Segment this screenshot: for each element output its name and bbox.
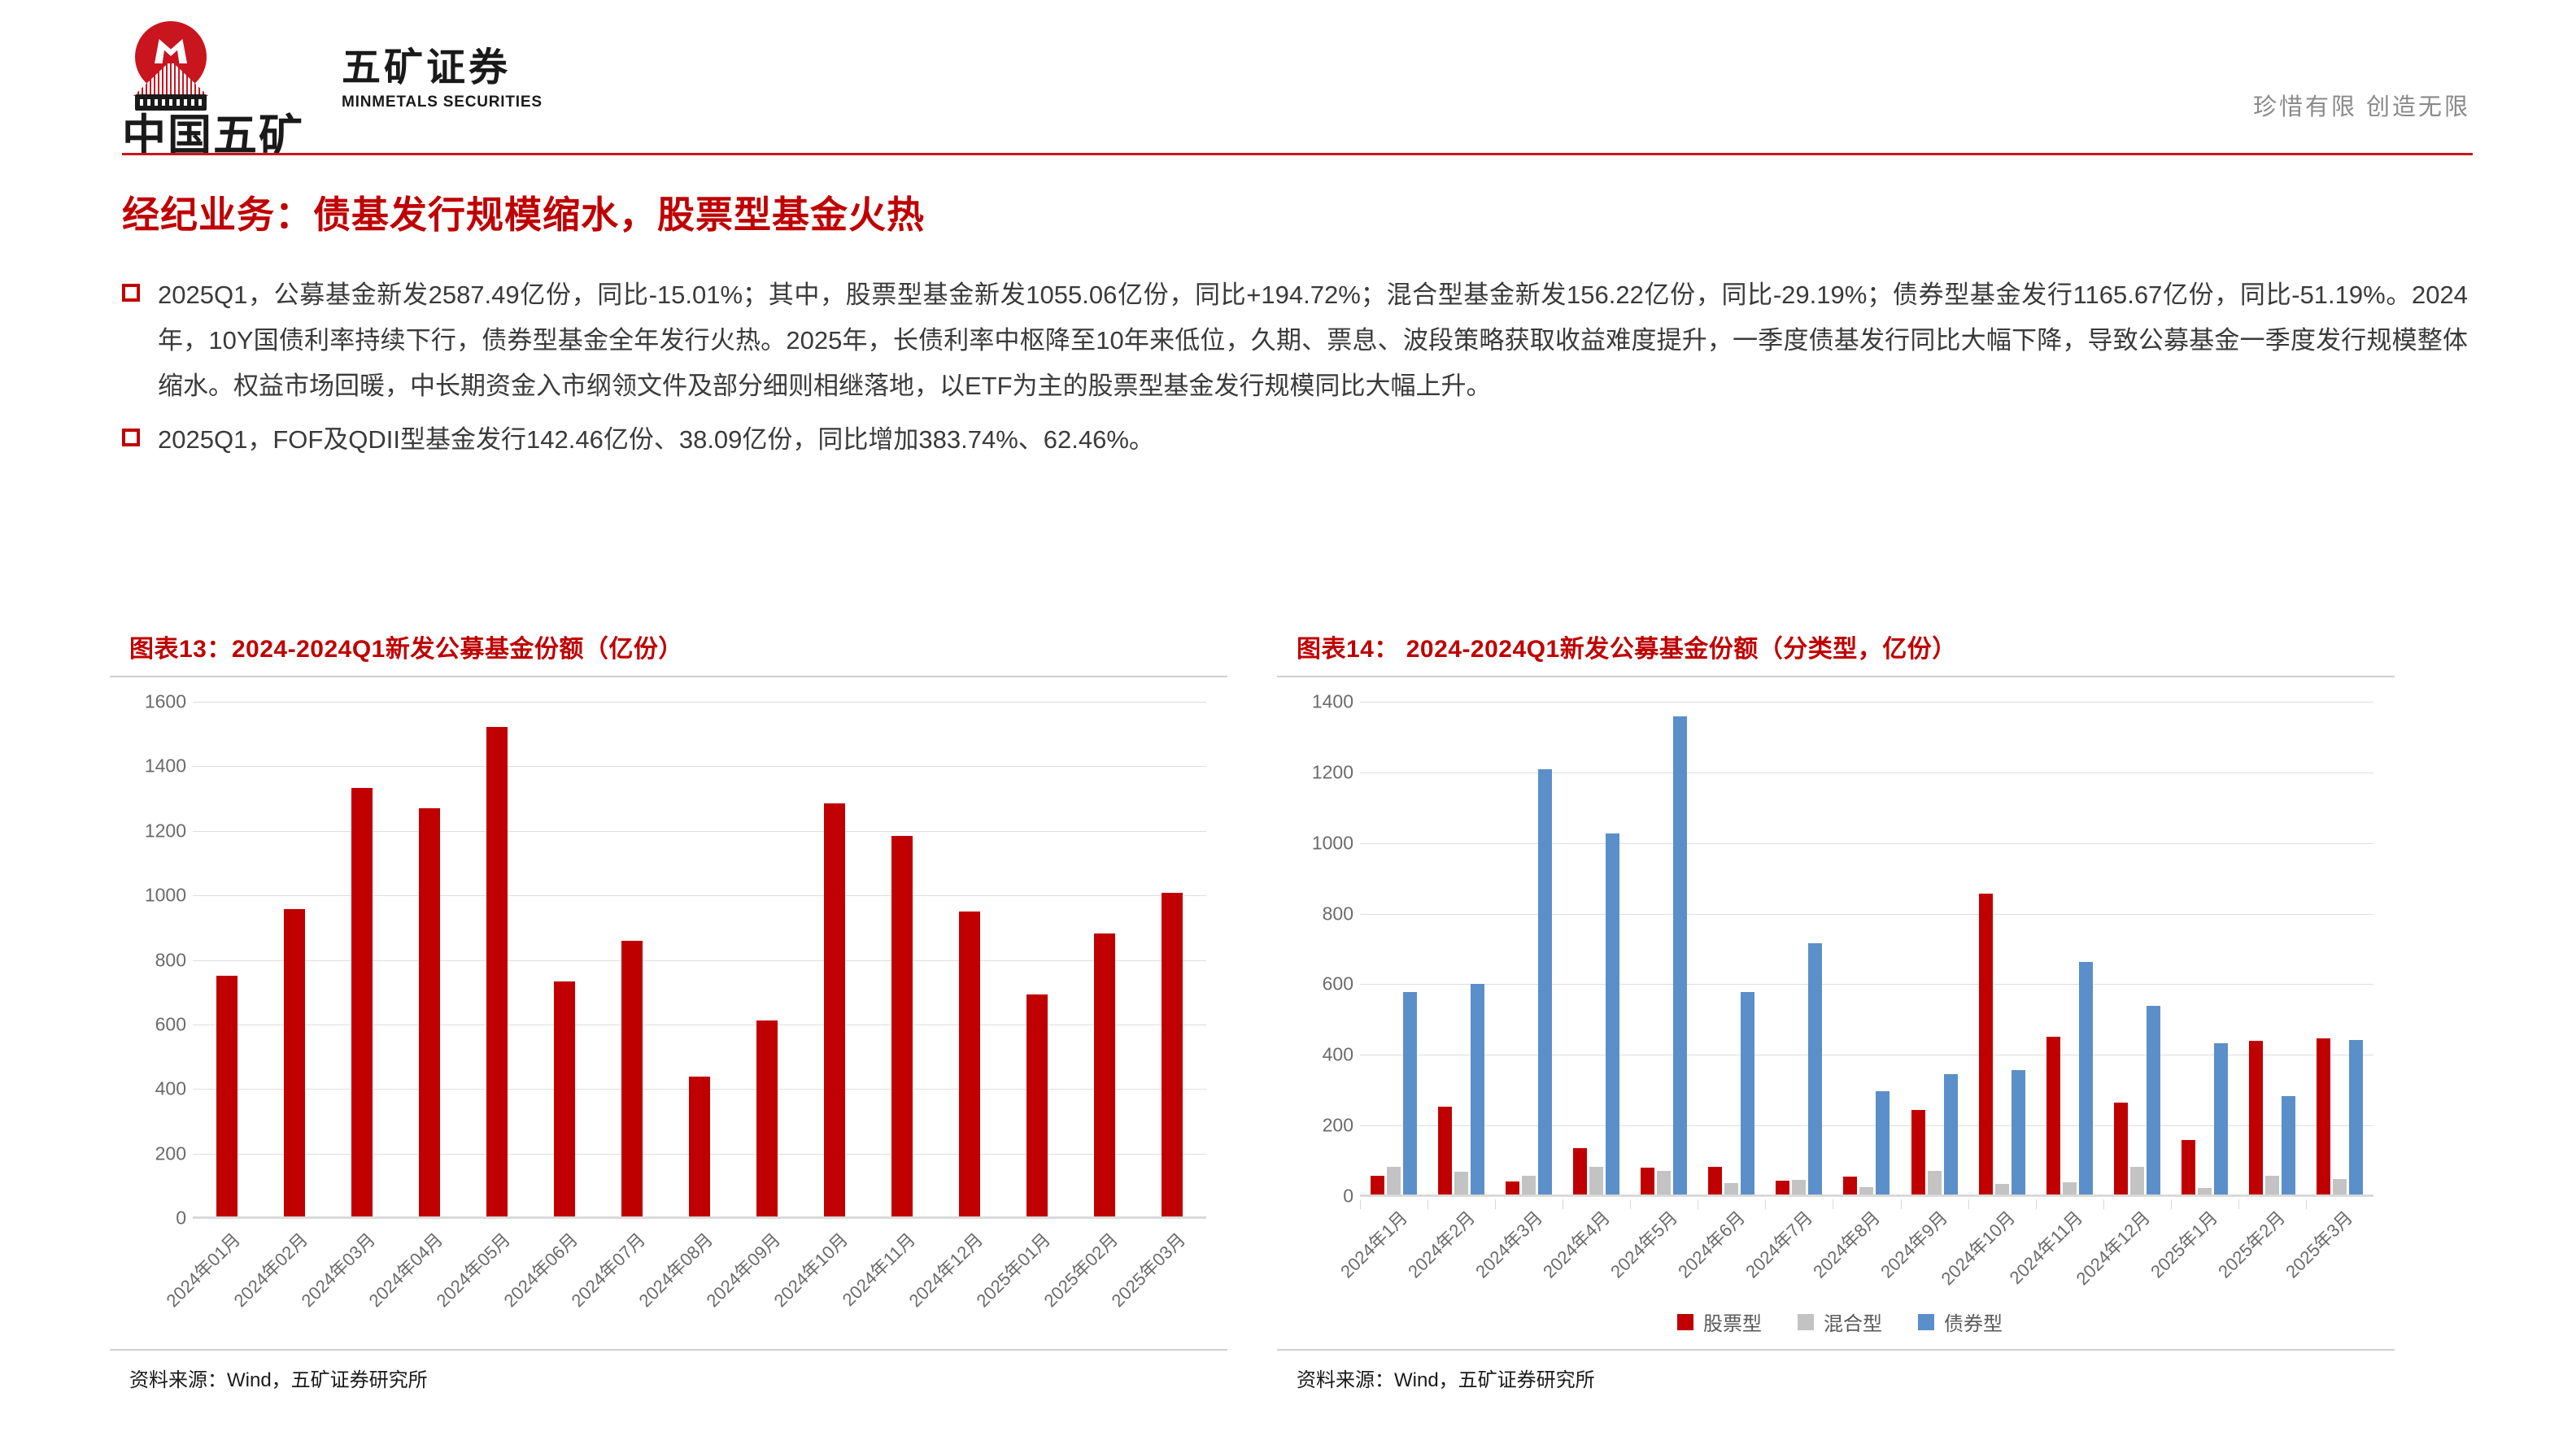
bar (284, 909, 305, 1218)
bar-债券型 (1876, 1091, 1890, 1196)
bar-slot (530, 702, 598, 1218)
bar-债券型 (1606, 833, 1619, 1196)
bar-slot (1004, 702, 1071, 1218)
bar-债券型 (1741, 992, 1754, 1196)
y-axis-tick-label: 600 (1323, 973, 1353, 995)
bar-slot (193, 702, 260, 1218)
bar-group (1765, 702, 1833, 1196)
body-bullet-list: 2025Q1，公募基金新发2587.49亿份，同比-15.01%；其中，股票型基… (122, 272, 2481, 471)
bar-series-container (1360, 702, 2373, 1196)
x-axis-tick (1427, 1199, 1428, 1209)
bar-chart-13: 020040060080010001200140016002024年01月202… (124, 702, 1221, 1349)
square-bullet-icon (122, 284, 140, 302)
bullet-text: 2025Q1，FOF及QDII型基金发行142.46亿份、38.09亿份，同比增… (158, 417, 2468, 463)
bar-group (1360, 702, 1427, 1196)
bar-股票型 (1438, 1107, 1452, 1196)
bar-债券型 (2282, 1096, 2295, 1196)
y-axis-tick-label: 1000 (1312, 832, 1353, 854)
x-axis-tick (1765, 1199, 1766, 1209)
bar-债券型 (1471, 984, 1484, 1196)
bar-slot (598, 702, 665, 1218)
bar-group (1427, 702, 1495, 1196)
y-axis-tick-label: 400 (1323, 1044, 1353, 1066)
x-axis-tick (1360, 1199, 1361, 1209)
y-axis-tick-label: 1200 (1312, 761, 1353, 783)
bar (419, 808, 440, 1218)
square-bullet-icon (122, 429, 140, 446)
chart-source-13: 资料来源：Wind，五矿证券研究所 (110, 1351, 1227, 1392)
x-axis-slot: 2025年03月 (1139, 1221, 1206, 1343)
legend-item-混合型: 混合型 (1798, 1308, 1882, 1336)
bar-混合型 (1454, 1172, 1468, 1196)
x-axis-tick (1630, 1199, 1631, 1209)
bar-股票型 (2249, 1041, 2263, 1196)
x-axis-tick (2171, 1199, 2172, 1209)
list-item: 2025Q1，公募基金新发2587.49亿份，同比-15.01%；其中，股票型基… (122, 272, 2481, 409)
bar-slot (869, 702, 936, 1218)
y-axis-tick-label: 1000 (145, 885, 186, 907)
x-axis-tick (2036, 1199, 2037, 1209)
x-axis-tick (1901, 1199, 1902, 1209)
bar-slot (328, 702, 395, 1218)
bar-股票型 (1911, 1110, 1925, 1196)
y-axis-tick-label: 1400 (1312, 691, 1353, 713)
bar-group (2238, 702, 2306, 1196)
legend-label: 股票型 (1703, 1308, 1762, 1336)
x-axis-labels: 2024年01月2024年02月2024年03月2024年04月2024年05月… (193, 1221, 1206, 1343)
bar-债券型 (2214, 1043, 2228, 1196)
y-axis-tick-label: 0 (1343, 1186, 1353, 1207)
bar-股票型 (1641, 1168, 1654, 1196)
x-axis-tick (1833, 1199, 1833, 1209)
legend-swatch-icon (1798, 1314, 1814, 1330)
x-axis-tick (2306, 1199, 2307, 1209)
plot-grid (193, 702, 1206, 1218)
bar-债券型 (2349, 1040, 2363, 1196)
bar-slot (1698, 702, 1765, 1196)
grid-line (193, 1218, 1206, 1219)
header-slogan: 珍惜有限 创造无限 (2253, 88, 2470, 122)
bar-slot (2238, 702, 2306, 1196)
x-axis-tick (2103, 1199, 2104, 1209)
bar (1094, 933, 1115, 1218)
bar (351, 788, 373, 1218)
legend-label: 混合型 (1824, 1308, 1882, 1336)
bar-slot (1139, 702, 1206, 1218)
legend-swatch-icon (1918, 1314, 1934, 1330)
x-axis-slot: 2025年3月 (2306, 1199, 2373, 1321)
bar-slot (734, 702, 801, 1218)
y-axis-tick-label: 200 (1323, 1115, 1353, 1137)
bar-股票型 (2182, 1140, 2195, 1196)
bar-slot (2171, 702, 2238, 1196)
bar-slot (1360, 702, 1427, 1196)
bar-slot (1765, 702, 1833, 1196)
bar (486, 727, 508, 1218)
x-axis-line (1360, 1194, 2373, 1196)
chart-source-14: 资料来源：Wind，五矿证券研究所 (1277, 1351, 2395, 1392)
bar-混合型 (2130, 1167, 2144, 1196)
bullet-text: 2025Q1，公募基金新发2587.49亿份，同比-15.01%；其中，股票型基… (158, 272, 2468, 409)
x-axis-tick (1495, 1199, 1496, 1209)
bar-债券型 (1403, 992, 1417, 1196)
bar (1026, 994, 1048, 1218)
bar-group (1901, 702, 1968, 1196)
plot-grid (1360, 702, 2373, 1196)
y-axis-tick-label: 0 (176, 1207, 186, 1229)
bar-债券型 (1673, 716, 1687, 1196)
y-axis-tick-label: 800 (155, 949, 186, 971)
x-axis-line (193, 1216, 1206, 1218)
header-divider (122, 153, 2473, 155)
bar-股票型 (2046, 1037, 2060, 1196)
chart-plot-area-13: 020040060080010001200140016002024年01月202… (110, 676, 1227, 1351)
bar-group (1698, 702, 1765, 1196)
bar-股票型 (2317, 1038, 2330, 1196)
bar-股票型 (1371, 1176, 1384, 1196)
bar-slot (1901, 702, 1968, 1196)
bar-slot (1968, 702, 2036, 1196)
bar-债券型 (1944, 1074, 1958, 1196)
bar (621, 941, 643, 1218)
bar-group (2306, 702, 2373, 1196)
bar-股票型 (1573, 1148, 1587, 1196)
bar (891, 836, 913, 1218)
bar-slot (1833, 702, 1900, 1196)
brand-name-en: MINMETALS SECURITIES (342, 94, 543, 111)
bar-slot (801, 702, 869, 1218)
y-axis-tick-label: 1200 (145, 820, 186, 842)
x-axis-tick (1968, 1199, 1969, 1209)
bar-slot (936, 702, 1004, 1218)
chart-panel-13: 图表13：2024-2024Q1新发公募基金份额（亿份） 02004006008… (110, 614, 1227, 1419)
chart-panel-14: 图表14： 2024-2024Q1新发公募基金份额（分类型，亿份） 020040… (1277, 614, 2395, 1419)
bar-slot (1495, 702, 1563, 1196)
y-axis-tick-label: 600 (155, 1013, 186, 1035)
brand-name-cn: 五矿证券 (342, 49, 543, 88)
bar-group (1833, 702, 1900, 1196)
bar-债券型 (2079, 962, 2093, 1196)
bar-group (2103, 702, 2171, 1196)
minmetals-emblem-icon: 中国五矿 (122, 21, 220, 128)
chart-legend: 股票型混合型债券型 (1292, 1308, 2388, 1336)
bar-债券型 (1538, 769, 1552, 1196)
bar-group (2171, 702, 2238, 1196)
bar-group (2036, 702, 2103, 1196)
company-logo: 中国五矿 五矿证券 MINMETALS SECURITIES (122, 21, 543, 128)
x-axis-labels: 2024年1月2024年2月2024年3月2024年4月2024年5月2024年… (1360, 1199, 2373, 1321)
bar-混合型 (1387, 1167, 1401, 1196)
grid-line (1360, 1196, 2373, 1197)
bar-slot (1427, 702, 1495, 1196)
legend-item-债券型: 债券型 (1918, 1308, 2003, 1336)
y-axis-labels: 02004006008001000120014001600 (124, 702, 193, 1349)
bar (824, 803, 845, 1218)
bar-债券型 (2147, 1006, 2160, 1197)
legend-label: 债券型 (1944, 1308, 2003, 1336)
bar-slot (1563, 702, 1630, 1196)
chart-title-13: 图表13：2024-2024Q1新发公募基金份额（亿份） (110, 614, 1227, 676)
bar (959, 912, 980, 1218)
bar-slot (395, 702, 463, 1218)
chart-title-14: 图表14： 2024-2024Q1新发公募基金份额（分类型，亿份） (1277, 614, 2395, 676)
bar-混合型 (1589, 1167, 1603, 1196)
list-item: 2025Q1，FOF及QDII型基金发行142.46亿份、38.09亿份，同比增… (122, 417, 2481, 463)
bar-债券型 (1808, 943, 1822, 1196)
y-axis-tick-label: 1600 (145, 691, 186, 713)
bar-债券型 (2012, 1070, 2025, 1196)
bar-slot (2036, 702, 2103, 1196)
y-axis-tick-label: 200 (155, 1142, 186, 1164)
bar-slot (1630, 702, 1698, 1196)
bar-股票型 (2114, 1103, 2128, 1196)
chart-plot-area-14: 02004006008001000120014002024年1月2024年2月2… (1277, 676, 2395, 1351)
bar-series-container (193, 702, 1206, 1218)
bar (216, 976, 238, 1218)
brand-lockup: 五矿证券 MINMETALS SECURITIES (342, 21, 543, 111)
page-header: 中国五矿 五矿证券 MINMETALS SECURITIES 珍惜有限 创造无限 (0, 0, 2576, 156)
legend-swatch-icon (1677, 1314, 1693, 1330)
bar-slot (665, 702, 733, 1218)
bar-混合型 (2333, 1179, 2347, 1196)
bar-混合型 (1657, 1171, 1671, 1196)
bar-混合型 (1522, 1176, 1536, 1196)
legend-item-股票型: 股票型 (1677, 1308, 1762, 1336)
y-axis-tick-label: 400 (155, 1078, 186, 1100)
bar (554, 981, 575, 1218)
bar-混合型 (2265, 1176, 2279, 1196)
y-axis-tick-label: 800 (1323, 903, 1353, 925)
bar-股票型 (1708, 1167, 1722, 1196)
bar-group (1630, 702, 1698, 1196)
bar (689, 1077, 710, 1218)
y-axis-tick-label: 1400 (145, 755, 186, 777)
bar-slot (2306, 702, 2373, 1196)
bar-group (1563, 702, 1630, 1196)
bar-group (1968, 702, 2036, 1196)
bar (756, 1020, 778, 1218)
bar-slot (2103, 702, 2171, 1196)
x-axis-tick (1563, 1199, 1563, 1209)
bar-slot (1071, 702, 1139, 1218)
bar (1162, 893, 1183, 1218)
bar-股票型 (1843, 1177, 1857, 1196)
bar-混合型 (1928, 1171, 1942, 1196)
bar-股票型 (1979, 894, 1993, 1196)
x-axis-tick (2238, 1199, 2239, 1209)
x-axis-tick (1698, 1199, 1698, 1209)
bar-slot (463, 702, 530, 1218)
grouped-bar-chart-14: 02004006008001000120014002024年1月2024年2月2… (1292, 702, 2388, 1349)
page-title: 经纪业务：债基发行规模缩水，股票型基金火热 (122, 185, 925, 239)
bar-group (1495, 702, 1563, 1196)
bar-slot (260, 702, 328, 1218)
